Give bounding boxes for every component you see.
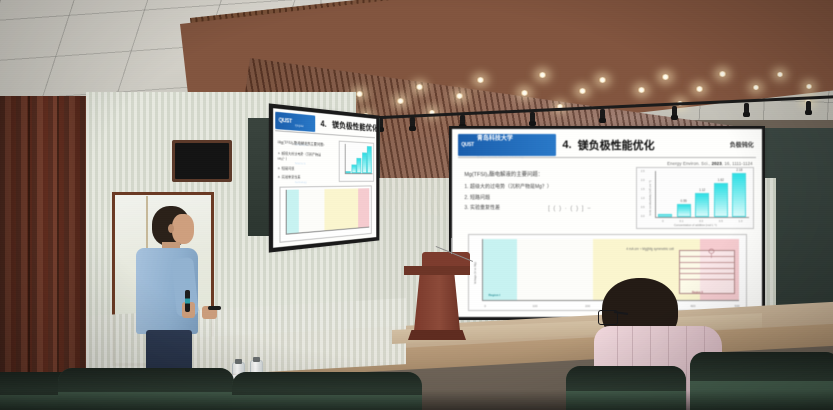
citation-year: 2023 xyxy=(712,161,722,166)
bar-chart-ytick: 0.5 xyxy=(641,206,645,209)
logo-mark: QUST xyxy=(461,142,474,148)
lecture-hall-photo: QUST 青岛科技大学 Qingdao University of Scienc… xyxy=(0,0,833,410)
bar-chart: Ionic conductivity (mS cm⁻¹) 2.5 2.0 1.5… xyxy=(636,167,754,229)
bar-chart-ytick: 1.5 xyxy=(641,188,645,191)
left-slide: QUST 青岛科技大学 Qingdao University of Scienc… xyxy=(273,108,376,248)
track-light-head xyxy=(600,109,605,120)
podium-lip xyxy=(404,266,470,275)
left-bullet-3: 3. 实验重复性差 xyxy=(278,174,328,179)
bar-chart-ylabel: Ionic conductivity (mS cm⁻¹) xyxy=(648,180,652,215)
downlight xyxy=(637,87,646,93)
track-light-head xyxy=(806,101,811,112)
downlight xyxy=(415,84,424,90)
track-light-head xyxy=(672,106,677,117)
downlight xyxy=(752,85,760,90)
downlight xyxy=(520,90,529,96)
line-chart-xtick: 100 xyxy=(532,304,537,308)
bar xyxy=(351,165,356,174)
bullet-1: 1. 超级大的过电势（沉积产物是Mg？） xyxy=(464,183,604,190)
downlight xyxy=(661,74,670,80)
downlight xyxy=(718,71,727,77)
university-logo: QUST 青岛科技大学 Qingdao University of Scienc… xyxy=(458,134,556,157)
left-bullet-lead: Mg(TFSI)₂酯电解液的主要问题： xyxy=(278,139,328,147)
bar-1: 0.55 xyxy=(677,204,691,217)
right-slide-header: QUST 青岛科技大学 Qingdao University of Scienc… xyxy=(458,134,756,157)
downlight xyxy=(538,72,547,78)
region-iv xyxy=(358,188,369,227)
slide-citation: Energy Environ. Sci., 2023, 16, 1111-112… xyxy=(667,161,753,166)
downlight xyxy=(578,88,587,94)
downlight xyxy=(355,91,364,97)
speaker-ear xyxy=(168,224,174,233)
line-chart-ylabel: Voltage (V vs Mg) xyxy=(473,262,477,284)
right-slide-header-rule xyxy=(458,157,756,158)
bar-value-3: 1.62 xyxy=(718,178,724,182)
podium-foot xyxy=(408,330,466,340)
bullet-2: 2. 短路问题 xyxy=(464,194,604,201)
podium xyxy=(396,252,472,346)
right-slide-section-number: 4. xyxy=(562,139,571,151)
left-bar-chart-plot xyxy=(345,144,372,175)
bar-chart-plot: 0.55 1.12 1.62 2.18 xyxy=(655,171,749,218)
left-slide-bullets: Mg(TFSI)₂酯电解液的主要问题： 1. 超级大的过电势（沉积产物是Mg？）… xyxy=(278,139,328,183)
left-bullet-2: 2. 短路问题 xyxy=(278,165,328,171)
downlight xyxy=(476,77,485,83)
bar-chart-xlabel: Concentration of additive (mol L⁻¹) xyxy=(637,223,753,227)
bar-chart-ytick: 2.5 xyxy=(641,170,645,173)
bullet-lead: Mg(TFSI)₂酯电解液的主要问题： xyxy=(464,170,604,178)
university-logo: QUST 青岛科技大学 Qingdao University of Scienc… xyxy=(276,111,315,132)
track-light-head xyxy=(410,117,415,128)
presentation-clicker[interactable] xyxy=(208,306,221,310)
downlight xyxy=(695,86,704,92)
left-slide-title: 镁负极性能优化 xyxy=(332,120,376,135)
bar-chart-ytick: 0.0 xyxy=(641,215,645,218)
region-ii xyxy=(299,189,325,232)
region-iii xyxy=(325,189,358,231)
left-line-chart-plot xyxy=(285,188,369,234)
left-wood-wall-shadow xyxy=(0,96,86,396)
right-slide-title: 镁负极性能优化 xyxy=(578,137,655,153)
wall-monitor xyxy=(172,140,232,182)
downlight xyxy=(598,77,607,83)
downlight xyxy=(776,72,784,77)
left-projection-screen[interactable]: QUST 青岛科技大学 Qingdao University of Scienc… xyxy=(273,108,376,248)
line-chart-xtick: 0 xyxy=(484,304,486,308)
downlight xyxy=(455,93,464,99)
citation-prefix: Energy Environ. Sci., xyxy=(667,161,710,166)
bar-chart-ytick: 2.0 xyxy=(641,179,645,182)
logo-chinese-name: 青岛科技大学 xyxy=(477,136,513,142)
bar xyxy=(346,171,351,174)
downlight xyxy=(396,98,405,104)
region-i xyxy=(286,190,298,234)
floor-shadow xyxy=(0,390,833,410)
bar xyxy=(367,146,372,174)
left-bullet-1: 1. 超级大的过电势（沉积产物是Mg？） xyxy=(278,150,328,162)
bar-value-1: 0.55 xyxy=(681,199,687,203)
left-bar-chart xyxy=(339,140,375,182)
bar-3: 1.62 xyxy=(714,183,728,217)
bar-value-2: 1.12 xyxy=(699,188,705,192)
bar-value-4: 2.18 xyxy=(736,168,742,172)
citation-rest: , 16, 1111-1124 xyxy=(722,161,753,166)
left-line-chart xyxy=(279,185,372,243)
left-slide-section-number: 4. xyxy=(321,120,327,130)
bar-2: 1.12 xyxy=(695,193,709,217)
speaker-face xyxy=(172,214,194,244)
bar-chart-ytick: 1.0 xyxy=(641,197,645,200)
track-light-head xyxy=(530,112,535,123)
track-light-head xyxy=(744,103,749,114)
track-light-head xyxy=(460,115,465,126)
microphone[interactable] xyxy=(185,290,190,312)
bar-4: 2.18 xyxy=(732,173,746,217)
bar-0 xyxy=(658,214,672,217)
downlight xyxy=(805,84,813,89)
podium-body xyxy=(414,275,460,331)
slide-formula: [ ( ) · ( ) ] − xyxy=(548,206,592,212)
logo-mark: QUST xyxy=(279,117,292,125)
right-slide-subtitle: 负极钝化 xyxy=(730,140,756,149)
